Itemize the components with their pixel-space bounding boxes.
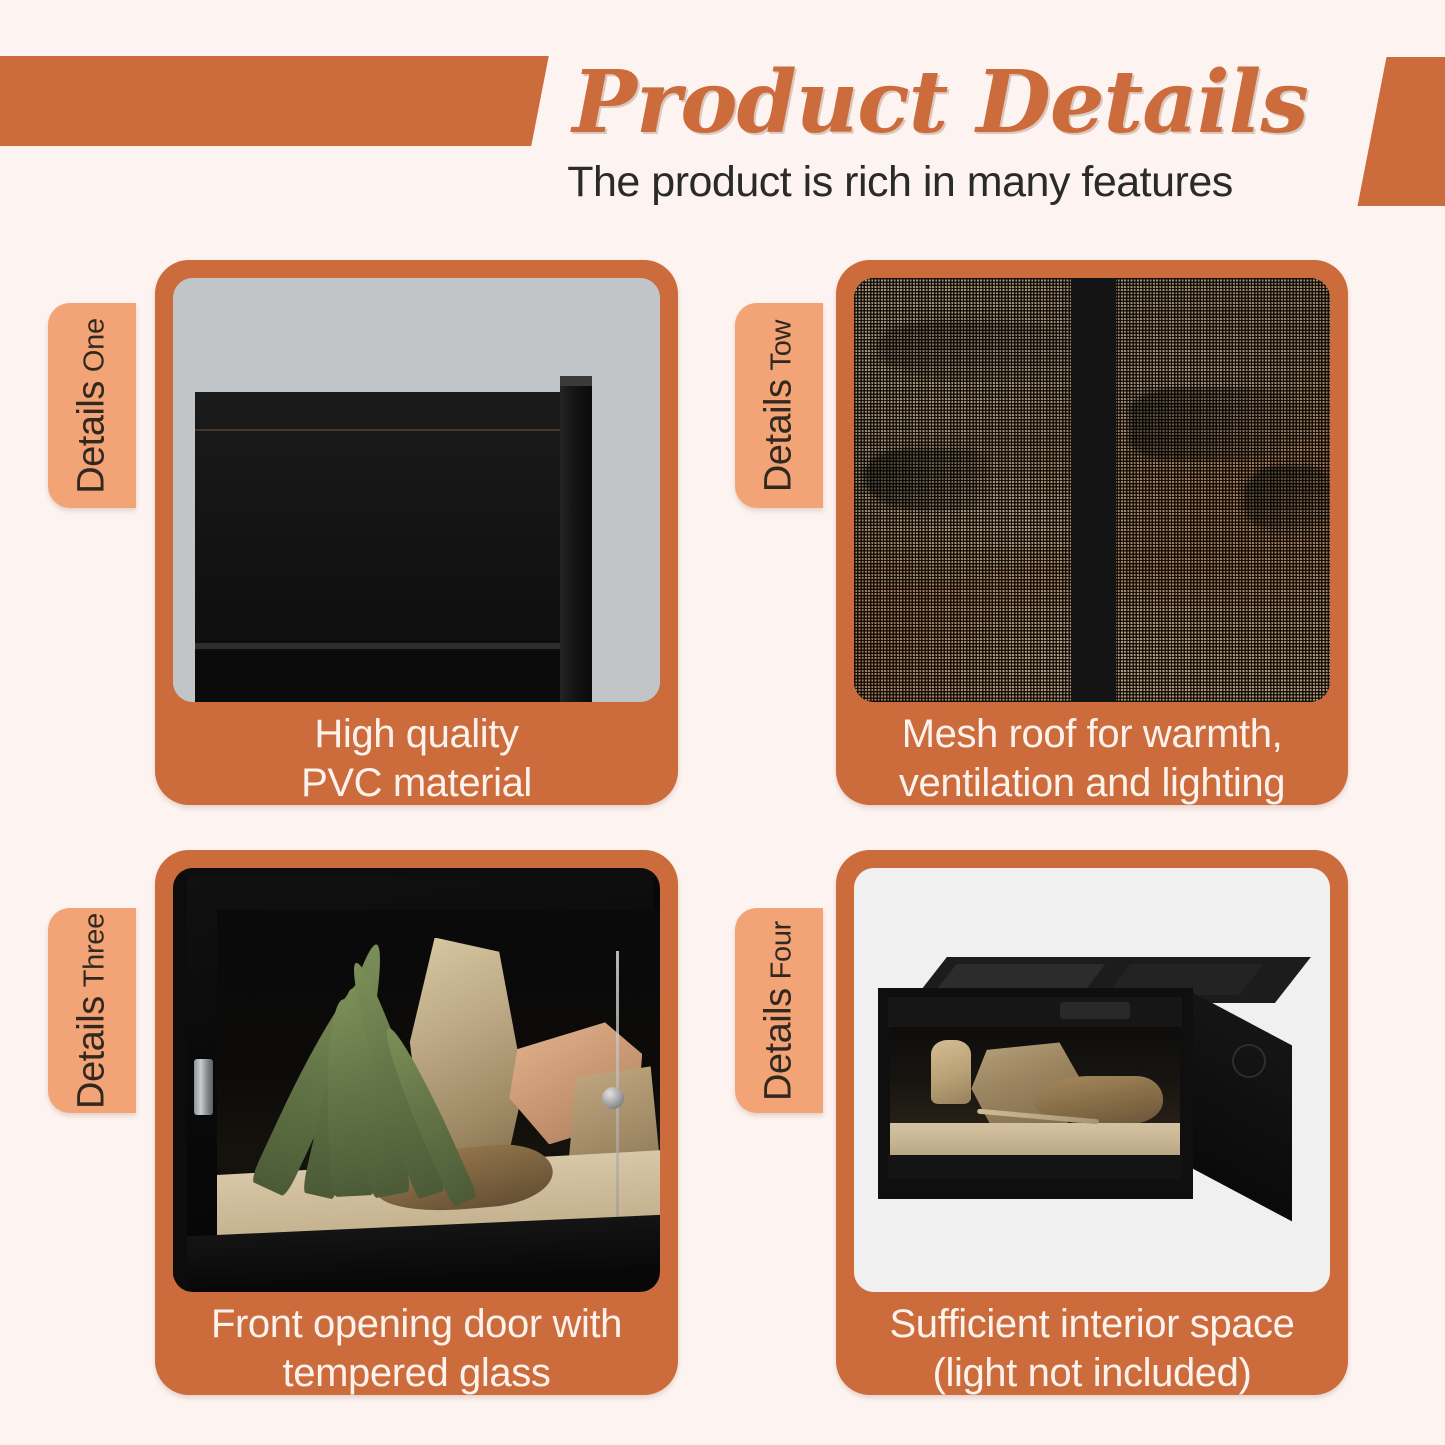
tank-glass-window <box>890 1027 1180 1155</box>
interior-grass <box>1082 1066 1140 1140</box>
detail-card-four: Sufficient interior space (light not inc… <box>836 850 1348 1395</box>
door-frame <box>173 868 660 1292</box>
card-three-caption: Front opening door with tempered glass <box>163 1300 670 1395</box>
tab-four-number: Four <box>766 920 799 978</box>
tab-details-two[interactable]: Details Tow <box>735 303 823 508</box>
pvc-corner-post <box>560 376 592 702</box>
pvc-panel-seam <box>195 429 565 431</box>
pvc-photo-scene <box>173 278 660 702</box>
tank-top-rail <box>888 997 1182 1028</box>
page-subtitle: The product is rich in many features <box>420 158 1380 207</box>
page-header: Product Details The product is rich in m… <box>0 0 1445 232</box>
page-title: Product Details <box>500 52 1380 153</box>
mesh-center-divider-bar <box>1071 278 1116 702</box>
card-one-caption: High quality PVC material <box>163 710 670 805</box>
card-four-caption: Sufficient interior space (light not inc… <box>844 1300 1340 1395</box>
pvc-panel-gap <box>195 643 565 649</box>
front-door-photo <box>173 868 660 1292</box>
tab-two-label-group: Details Tow <box>758 319 801 491</box>
detail-card-two: Mesh roof for warmth, ventilation and li… <box>836 260 1348 805</box>
door-handle <box>194 1059 213 1115</box>
tab-three-title: Details <box>71 996 114 1109</box>
enclosure-photo-scene <box>854 868 1330 1292</box>
tank-side-face <box>1184 988 1292 1222</box>
interior-aloe-plant <box>905 1094 951 1143</box>
tab-three-label-group: Details Three <box>71 913 114 1109</box>
tab-one-label-group: Details One <box>71 318 114 494</box>
detail-card-one: High quality PVC material <box>155 260 678 805</box>
tab-details-four[interactable]: Details Four <box>735 908 823 1113</box>
pvc-panel-base <box>195 651 565 702</box>
tab-four-label-group: Details Four <box>758 920 801 1100</box>
tab-three-number: Three <box>79 913 112 987</box>
terrarium-tank <box>878 957 1292 1199</box>
detail-card-three: Front opening door with tempered glass <box>155 850 678 1395</box>
pvc-panel-photo <box>173 278 660 702</box>
mesh-photo-scene <box>854 278 1330 702</box>
tab-two-title: Details <box>758 379 801 492</box>
tab-one-title: Details <box>71 381 114 494</box>
tab-four-title: Details <box>758 988 801 1101</box>
front-door-photo-scene <box>173 868 660 1292</box>
side-vent-icon <box>1232 1044 1266 1078</box>
interior-succulent <box>966 1101 1001 1139</box>
tab-details-one[interactable]: Details One <box>48 303 136 508</box>
mesh-roof-photo <box>854 278 1330 702</box>
tab-two-number: Tow <box>766 319 799 370</box>
tab-details-three[interactable]: Details Three <box>48 908 136 1113</box>
brand-logo-badge <box>1060 1002 1130 1019</box>
full-enclosure-photo <box>854 868 1330 1292</box>
tab-one-number: One <box>79 318 112 372</box>
header-accent-bar-left <box>0 56 549 146</box>
tank-base-rail <box>888 1155 1182 1179</box>
card-two-caption: Mesh roof for warmth, ventilation and li… <box>844 710 1340 805</box>
pvc-corner-post-cap <box>560 376 592 386</box>
